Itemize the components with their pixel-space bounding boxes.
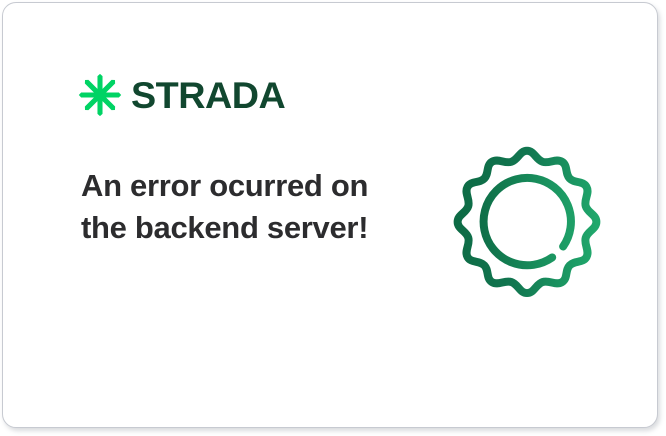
gear-cog-icon xyxy=(443,139,611,307)
brand-logo: STRADA xyxy=(77,71,282,119)
error-card: STRADA An error ocurred on the backend s… xyxy=(2,2,658,428)
brand-wordmark: STRADA xyxy=(131,77,285,114)
error-message-text: An error ocurred on the backend server! xyxy=(81,165,381,249)
strada-asterisk-icon xyxy=(77,72,123,118)
gear-cog-illustration xyxy=(443,139,611,307)
